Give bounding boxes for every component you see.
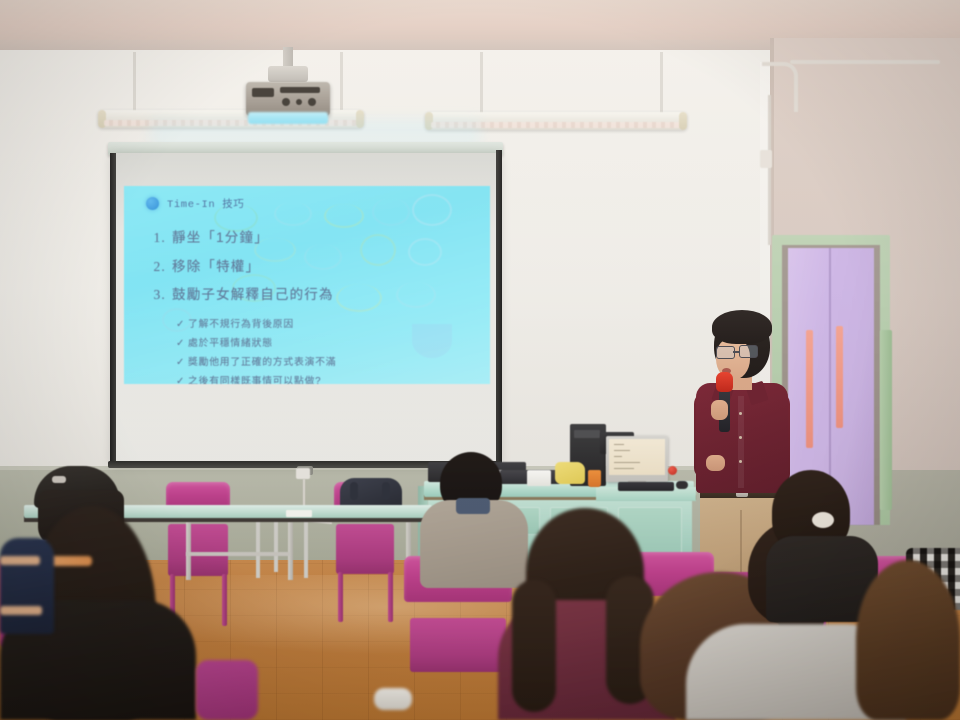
ceiling-projector: [246, 82, 330, 116]
table-leg: [288, 522, 293, 580]
list-item: 2. 移除「特權」: [150, 259, 470, 275]
audience-collar-sweater: [456, 498, 490, 514]
glasses-bridge: [733, 351, 739, 353]
slide-title: Time-In 技巧: [167, 196, 244, 211]
list-index: 1.: [150, 230, 166, 246]
sub-list-item: ✓了解不規行為背後原因: [176, 316, 476, 330]
light-hanger-left-a: [133, 52, 136, 112]
white-scrunchie: [812, 512, 834, 528]
screen-edge-right: [496, 150, 502, 465]
sub-list-text: 處於平穩情緒狀態: [188, 338, 273, 349]
table-leg: [186, 522, 191, 580]
shirt-button: [739, 436, 742, 439]
mouse[interactable]: [676, 481, 688, 489]
list-item: 1. 靜坐「1分鐘」: [150, 230, 470, 246]
screen-edge-left: [110, 153, 116, 465]
presenter-hair: [712, 310, 772, 344]
audience-jacket-far-left: [0, 538, 54, 634]
check-icon: ✓: [176, 357, 185, 368]
list-index: 2.: [150, 259, 166, 275]
microphone-head-icon: [716, 372, 733, 392]
paper-on-table: [286, 510, 312, 517]
keyboard[interactable]: [618, 482, 674, 491]
light-hanger-left-b: [340, 52, 343, 110]
wall-junction-box: [760, 150, 772, 168]
list-text: 鼓勵子女解釋自己的行為: [172, 287, 334, 303]
glasses-lens-right-icon: [739, 345, 758, 358]
list-text: 靜坐「1分鐘」: [172, 230, 269, 246]
presenter-other-hand: [706, 455, 725, 471]
white-shoe: [374, 688, 412, 710]
shirt-placket: [738, 396, 744, 488]
audience-hair-strand-left: [512, 580, 556, 712]
audience-head-brown-hair: [856, 560, 960, 720]
sub-list-text: 獎勵他用了正確的方式表演不滿: [188, 357, 336, 368]
yellow-pouch: [555, 462, 585, 484]
sub-list-text: 之後有同樣既事情可以點做?: [188, 376, 321, 384]
presenter-hand-holding-mic: [711, 400, 728, 420]
shirt-button: [739, 412, 742, 415]
sub-list-item: ✓之後有同樣既事情可以點做?: [176, 373, 476, 384]
blue-circle-bullet-icon: [146, 197, 159, 210]
slide-title-row: Time-In 技巧: [146, 196, 244, 211]
jacket-stripe: [0, 606, 42, 615]
sub-list-item: ✓處於平穩情緒狀態: [176, 335, 476, 349]
list-text: 移除「特權」: [172, 259, 260, 275]
monitor-screen: [609, 439, 665, 475]
slide-numbered-list: 1. 靜坐「1分鐘」 2. 移除「特權」 3. 鼓勵子女解釋自己的行為: [150, 230, 470, 316]
light-hanger-right-b: [660, 52, 663, 114]
sub-list-item: ✓獎勵他用了正確的方式表演不滿: [176, 354, 476, 368]
desktop-monitor[interactable]: [606, 436, 668, 482]
jacket-stripe: [0, 556, 40, 565]
chair-foreground-left[interactable]: [196, 660, 258, 720]
classroom-presentation-photo: Time-In 技巧 1. 靜坐「1分鐘」 2. 移除「特權」 3. 鼓勵子女解…: [0, 0, 960, 720]
cap-logo-icon: [52, 476, 66, 483]
red-mic-base: [668, 466, 677, 475]
door-post: [880, 330, 892, 510]
slide-sub-list: ✓了解不規行為背後原因 ✓處於平穩情緒狀態 ✓獎勵他用了正確的方式表演不滿 ✓之…: [176, 316, 476, 384]
shirt-button: [739, 460, 742, 463]
table-brace: [186, 552, 290, 556]
list-item: 3. 鼓勵子女解釋自己的行為: [150, 287, 470, 303]
projected-slide: Time-In 技巧 1. 靜坐「1分鐘」 2. 移除「特權」 3. 鼓勵子女解…: [124, 186, 490, 384]
check-icon: ✓: [176, 319, 185, 330]
orange-cup: [588, 470, 601, 487]
wall-outlet[interactable]: [296, 468, 310, 479]
sub-list-text: 了解不規行為背後原因: [188, 319, 294, 330]
wall-wire: [768, 95, 771, 245]
wall-conduit: [790, 60, 940, 64]
check-icon: ✓: [176, 376, 185, 384]
light-hanger-right-a: [480, 52, 483, 114]
projector-mount-plate: [268, 66, 308, 82]
tissue-pack: [527, 470, 551, 486]
list-index: 3.: [150, 287, 166, 303]
check-icon: ✓: [176, 338, 185, 349]
